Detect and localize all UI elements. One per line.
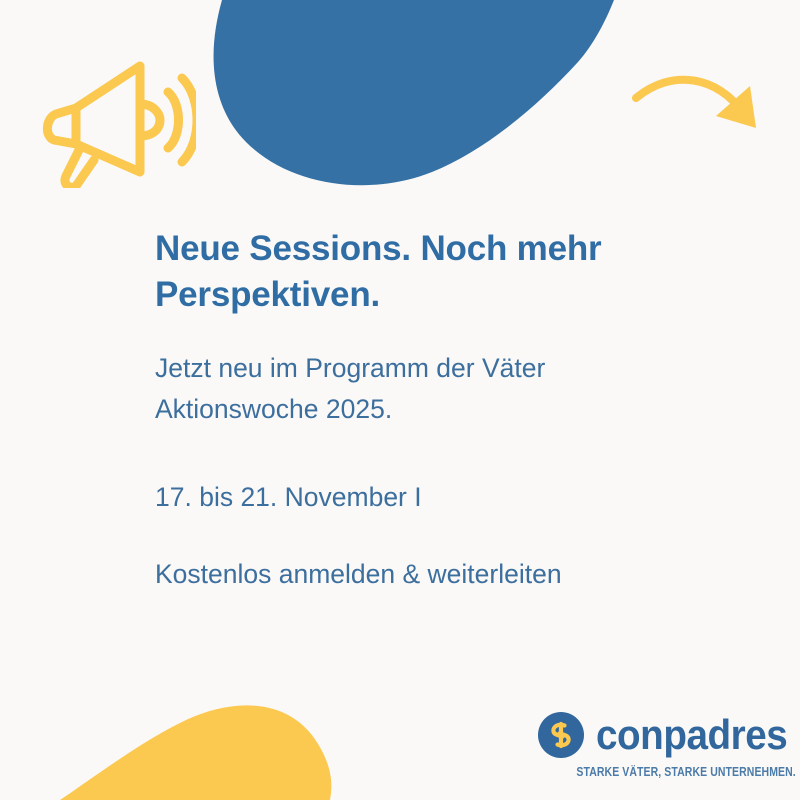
program-description: Jetzt neu im Programm der Väter Aktionsw… (155, 348, 675, 430)
copy-block: Neue Sessions. Noch mehr Perspektiven. J… (155, 226, 715, 595)
social-media-poster: Neue Sessions. Noch mehr Perspektiven. J… (0, 0, 800, 800)
body-text-block: Jetzt neu im Programm der Väter Aktionsw… (155, 348, 715, 594)
logo-wordmark: conpadres (596, 714, 787, 756)
yellow-blob-shape (0, 705, 331, 800)
event-dates: 17. bis 21. November I (155, 477, 675, 518)
call-to-action: Kostenlos anmelden & weiterleiten (155, 554, 675, 595)
logo-row: conpadres (538, 712, 778, 758)
conpadres-link-mark-icon (538, 712, 584, 758)
page-title: Neue Sessions. Noch mehr Perspektiven. (155, 226, 675, 318)
blue-blob-shape (214, 0, 614, 185)
conpadres-logo[interactable]: conpadres STARKE VÄTER, STARKE UNTERNEHM… (538, 712, 778, 786)
logo-tagline: STARKE VÄTER, STARKE UNTERNEHMEN. (576, 765, 778, 779)
megaphone-icon (36, 52, 196, 188)
curved-arrow-icon (632, 62, 772, 148)
